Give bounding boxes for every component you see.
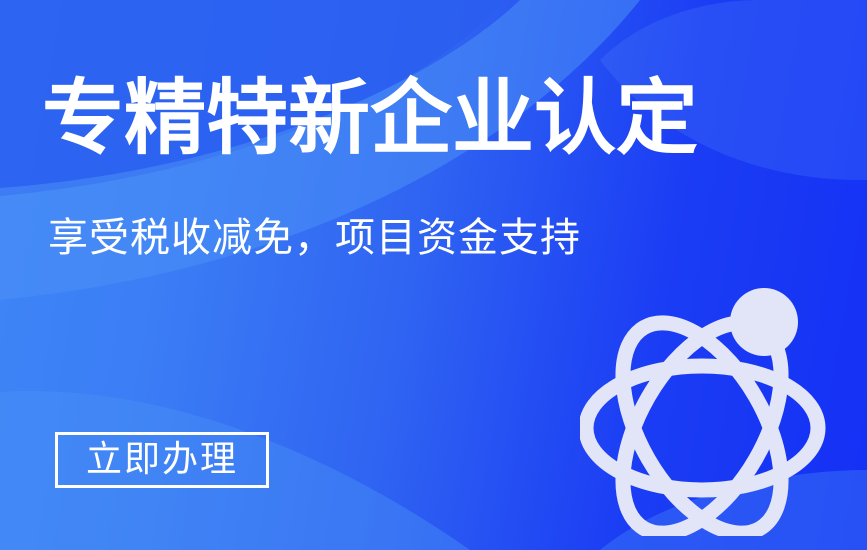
promo-banner: 专精特新企业认定 享受税收减免，项目资金支持 立即办理	[0, 0, 867, 550]
banner-title: 专精特新企业认定	[42, 78, 698, 160]
atom-icon	[580, 282, 838, 536]
apply-now-button[interactable]: 立即办理	[55, 432, 269, 488]
atom-electron	[730, 288, 798, 356]
banner-subtitle: 享受税收减免，项目资金支持	[48, 214, 581, 262]
